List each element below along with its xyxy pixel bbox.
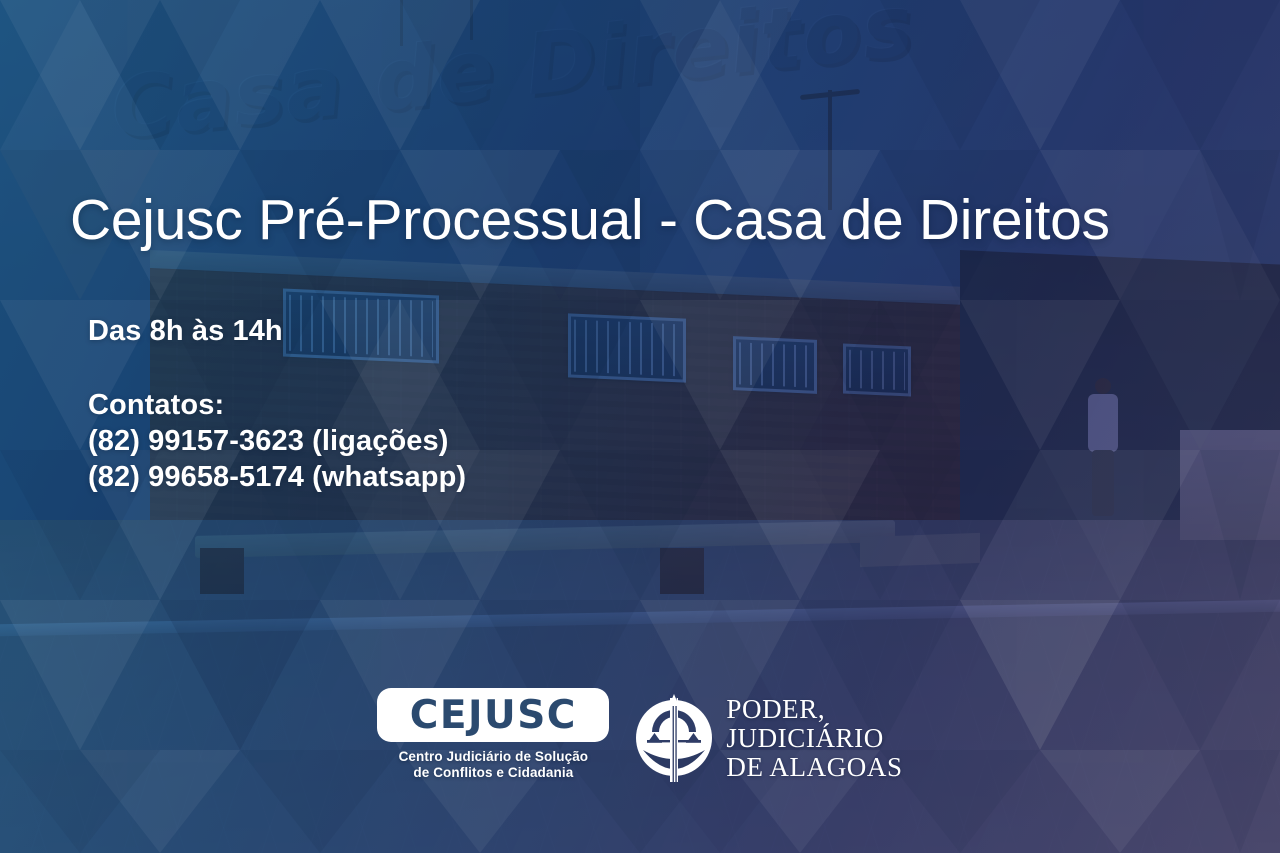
phone-calls: (82) 99157-3623 (ligações) (88, 423, 466, 459)
cejusc-wordmark: CEJUSC (410, 696, 577, 735)
poster-content: Cejusc Pré-Processual - Casa de Direitos… (0, 0, 1280, 853)
cejusc-tagline-line1: Centro Judiciário de Solução (377, 749, 609, 765)
poder-judiciario-wordmark: PODER, JUDICIÁRIO DE ALAGOAS (726, 695, 902, 782)
scales-of-justice-emblem-icon (635, 692, 713, 784)
pj-line-3: DE ALAGOAS (726, 753, 902, 782)
pj-line-2: JUDICIÁRIO (726, 724, 902, 753)
poder-judiciario-logo: PODER, JUDICIÁRIO DE ALAGOAS (635, 692, 902, 784)
cejusc-tagline-line2: de Conflitos e Cidadania (377, 765, 609, 781)
cejusc-tagline: Centro Judiciário de Solução de Conflito… (377, 749, 609, 781)
pj-line-1: PODER, (726, 695, 902, 724)
poster-canvas: Casa de Direitos (0, 0, 1280, 853)
opening-hours-text: Das 8h às 14h (88, 313, 283, 349)
page-title: Cejusc Pré-Processual - Casa de Direitos (70, 188, 1110, 252)
cejusc-badge: CEJUSC (377, 688, 609, 742)
footer-logos: CEJUSC Centro Judiciário de Solução de C… (0, 688, 1280, 803)
phone-whatsapp: (82) 99658-5174 (whatsapp) (88, 459, 466, 495)
contacts-block: Contatos: (82) 99157-3623 (ligações) (82… (88, 387, 466, 495)
contacts-label: Contatos: (88, 387, 466, 423)
cejusc-logo: CEJUSC Centro Judiciário de Solução de C… (377, 688, 609, 781)
